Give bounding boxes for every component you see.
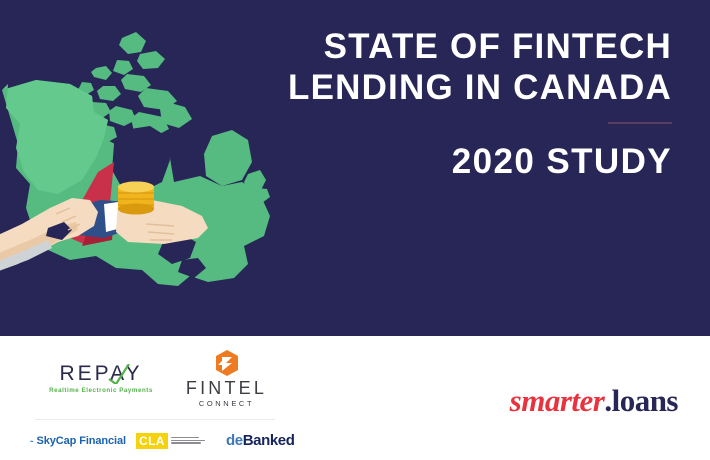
- logo-debanked[interactable]: deBanked: [226, 432, 295, 450]
- brand-word-loans: .loans: [604, 383, 678, 418]
- subhead-study-year: 2020 STUDY: [252, 141, 672, 182]
- fintel-subword: CONNECT: [174, 399, 279, 408]
- cla-badge: CLA: [136, 433, 168, 449]
- debanked-prefix: de: [226, 432, 243, 449]
- title-block: STATE OF FINTECH LENDING IN CANADA 2020 …: [252, 26, 672, 182]
- fintel-wordmark: FINTEL: [174, 379, 279, 398]
- brand-word-smarter: smarter: [510, 383, 605, 418]
- skycap-mountain-icon: [30, 433, 34, 449]
- partner-row-primary: REPAY Realtime Electronic Payments FINTE…: [30, 350, 290, 406]
- cla-subtext-placeholder: [171, 437, 205, 446]
- poster-canvas: STATE OF FINTECH LENDING IN CANADA 2020 …: [0, 0, 710, 460]
- repay-checkmark-icon: [108, 364, 130, 384]
- hero-banner: STATE OF FINTECH LENDING IN CANADA 2020 …: [0, 0, 710, 336]
- skycap-wordmark: SkyCap Financial: [37, 435, 127, 447]
- repay-tagline: Realtime Electronic Payments: [40, 387, 162, 394]
- coin-stack-icon: [118, 182, 154, 215]
- logo-skycap-financial[interactable]: SkyCap Financial: [30, 433, 126, 449]
- headline-line-1: STATE OF FINTECH: [252, 26, 672, 67]
- partner-row-secondary: SkyCap Financial CLA deBanked: [30, 428, 295, 454]
- footer-divider-line: [35, 419, 275, 420]
- partner-logos-group: REPAY Realtime Electronic Payments FINTE…: [0, 336, 300, 460]
- footer-bar: REPAY Realtime Electronic Payments FINTE…: [0, 336, 710, 460]
- debanked-suffix: Banked: [243, 432, 295, 449]
- logo-canadian-lenders-association[interactable]: CLA: [136, 433, 212, 449]
- title-divider-rule: [608, 122, 672, 124]
- fintel-hexagon-f-icon: [214, 349, 240, 377]
- brand-smarter-loans[interactable]: smarter.loans: [510, 383, 678, 419]
- logo-fintel-connect[interactable]: FINTEL CONNECT: [174, 349, 279, 408]
- repay-word-text: REPAY: [59, 362, 142, 385]
- repay-wordmark: REPAY: [59, 363, 142, 385]
- headline-line-2: LENDING IN CANADA: [252, 67, 672, 108]
- logo-repay[interactable]: REPAY Realtime Electronic Payments: [40, 363, 162, 394]
